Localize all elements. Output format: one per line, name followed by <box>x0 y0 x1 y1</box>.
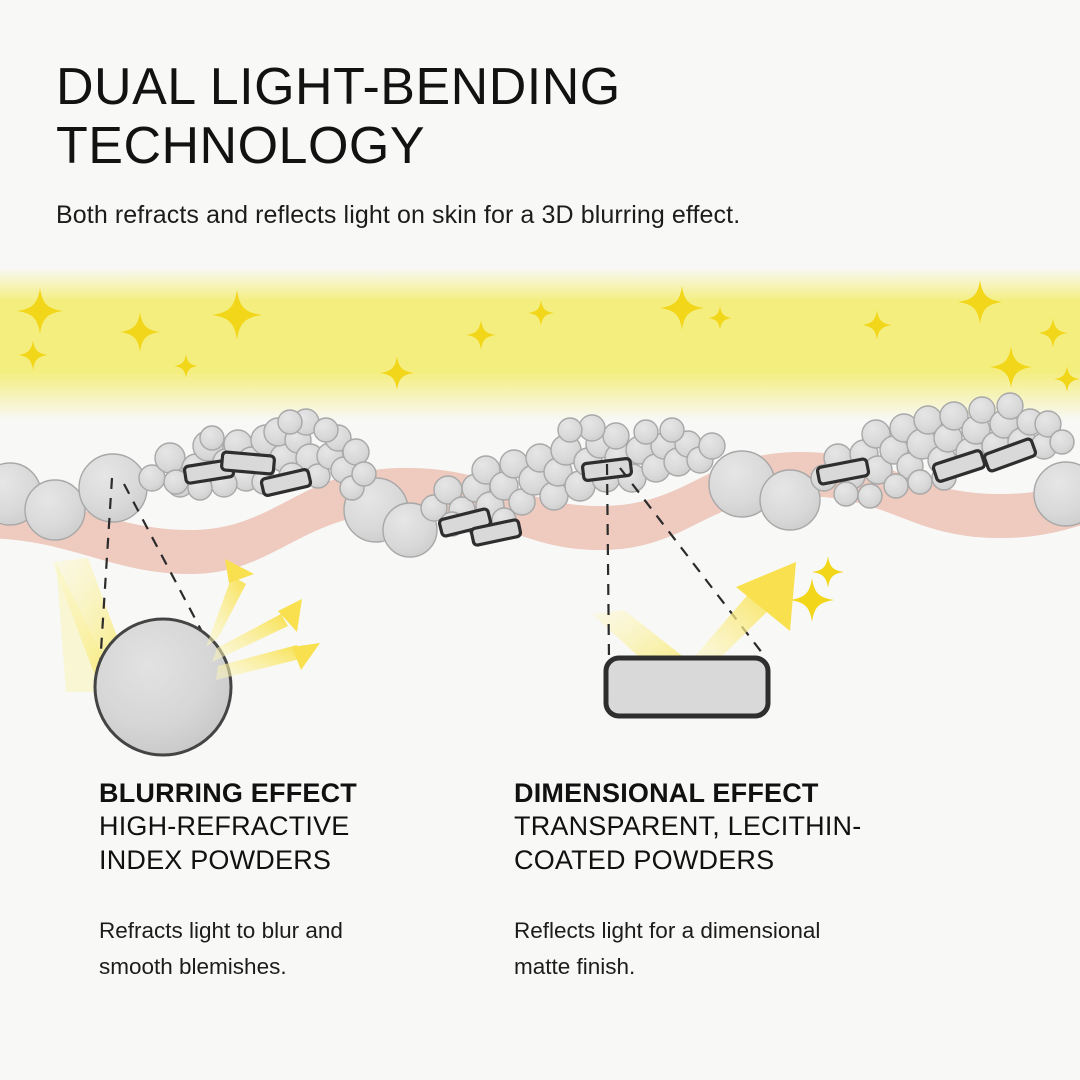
light-band <box>0 268 1080 420</box>
illustration <box>0 262 1080 762</box>
effect-columns: BLURRING EFFECT HIGH-REFRACTIVE INDEX PO… <box>0 778 1080 986</box>
dimensional-effect-body: Reflects light for a dimensional matte f… <box>514 877 960 986</box>
infographic-page: DUAL LIGHT-BENDING TECHNOLOGY Both refra… <box>0 0 1080 1080</box>
header: DUAL LIGHT-BENDING TECHNOLOGY Both refra… <box>56 58 1016 230</box>
dimensional-effect-heading: DIMENSIONAL EFFECT <box>514 778 960 809</box>
magnified-platelet <box>606 658 768 716</box>
page-title: DUAL LIGHT-BENDING TECHNOLOGY <box>56 58 1016 177</box>
column-blurring-effect: BLURRING EFFECT HIGH-REFRACTIVE INDEX PO… <box>0 778 480 986</box>
dimensional-effect-subheading: TRANSPARENT, LECITHIN- COATED POWDERS <box>514 809 960 877</box>
page-subtitle: Both refracts and reflects light on skin… <box>56 177 1016 230</box>
blurring-effect-body: Refracts light to blur and smooth blemis… <box>99 877 480 986</box>
reflected-ray <box>690 562 796 662</box>
blurring-effect-subheading: HIGH-REFRACTIVE INDEX POWDERS <box>99 809 480 877</box>
blurring-effect-heading: BLURRING EFFECT <box>99 778 480 809</box>
column-dimensional-effect: DIMENSIONAL EFFECT TRANSPARENT, LECITHIN… <box>480 778 960 986</box>
